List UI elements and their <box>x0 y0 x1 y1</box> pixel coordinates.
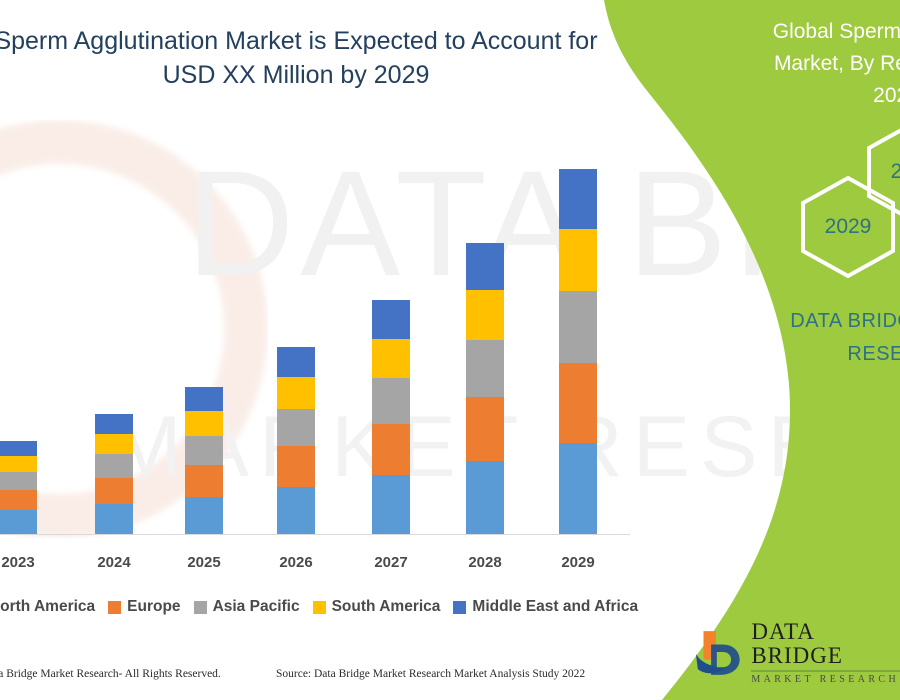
legend-item-middle-east-and-africa[interactable]: Middle East and Africa <box>453 598 638 616</box>
bar-segment-middle-east-and-africa-2029 <box>559 169 597 229</box>
legend-item-europe[interactable]: Europe <box>108 598 180 616</box>
x-axis-label-2026: 2026 <box>256 554 336 571</box>
bar-segment-south-america-2027 <box>372 339 410 379</box>
hexagon-badge-2029: 2029 <box>800 175 896 279</box>
bar-segment-europe-2023 <box>0 490 37 510</box>
bar-2026 <box>277 347 315 534</box>
green-panel-caption: DATA BRIDGE MARKET RESEARCH <box>780 305 900 371</box>
bar-segment-asia-pacific-2024 <box>95 454 133 478</box>
dbmr-b-mark-icon <box>694 628 745 678</box>
legend-item-asia-pacific[interactable]: Asia Pacific <box>194 598 300 616</box>
x-axis-label-2024: 2024 <box>74 554 154 571</box>
bar-segment-middle-east-and-africa-2026 <box>277 347 315 377</box>
logo-subtitle: MARKET RESEARCH <box>751 674 900 686</box>
legend-swatch-icon <box>194 601 207 614</box>
bar-2027 <box>372 300 410 534</box>
brand-logo: DATA BRIDGE MARKET RESEARCH <box>694 625 900 681</box>
bar-segment-middle-east-and-africa-2027 <box>372 300 410 338</box>
bar-segment-europe-2028 <box>466 397 504 460</box>
logo-wordmark: DATA BRIDGE MARKET RESEARCH <box>751 620 900 686</box>
chart-infographic: DATA BRIDGE MARKET RESEARCH Global Sperm… <box>0 0 900 700</box>
bar-segment-europe-2026 <box>277 446 315 487</box>
bar-segment-middle-east-and-africa-2025 <box>185 387 223 411</box>
bar-segment-south-america-2023 <box>0 456 37 472</box>
bar-segment-europe-2024 <box>95 478 133 504</box>
bar-segment-north-america-2023 <box>0 510 37 534</box>
legend-label: Middle East and Africa <box>472 598 638 616</box>
stacked-bar-chart <box>0 150 640 535</box>
bar-2025 <box>185 387 223 534</box>
green-panel-title: Global Sperm Agglutination Market, By Re… <box>770 16 900 112</box>
legend-label: Europe <box>127 598 180 616</box>
legend-label: North America <box>0 598 95 616</box>
bar-segment-asia-pacific-2023 <box>0 472 37 490</box>
bar-2023 <box>0 441 37 534</box>
legend-label: South America <box>332 598 441 616</box>
bar-segment-north-america-2027 <box>372 475 410 534</box>
bar-segment-asia-pacific-2029 <box>559 291 597 363</box>
bar-segment-middle-east-and-africa-2028 <box>466 243 504 290</box>
legend-swatch-icon <box>453 601 466 614</box>
bar-segment-north-america-2025 <box>185 497 223 534</box>
bar-segment-asia-pacific-2026 <box>277 409 315 446</box>
x-axis-label-2025: 2025 <box>164 554 244 571</box>
x-axis-labels: 2023202420252026202720282029 <box>0 554 640 584</box>
bar-segment-asia-pacific-2028 <box>466 340 504 398</box>
legend-swatch-icon <box>108 601 121 614</box>
legend-swatch-icon <box>313 601 326 614</box>
x-axis-label-2029: 2029 <box>538 554 618 571</box>
hexagon-badge-2029-label: 2029 <box>825 215 872 239</box>
page-title: Sperm Agglutination Market is Expected t… <box>0 24 616 92</box>
footer-source: Source: Data Bridge Market Research Mark… <box>276 668 585 680</box>
bar-segment-middle-east-and-africa-2024 <box>95 414 133 433</box>
x-axis-label-2023: 2023 <box>0 554 58 571</box>
bar-segment-north-america-2024 <box>95 504 133 534</box>
x-axis-label-2027: 2027 <box>351 554 431 571</box>
hexagon-badge-2022-label: 2022 <box>891 160 900 184</box>
logo-title: DATA BRIDGE <box>751 620 900 668</box>
bar-2024 <box>95 414 133 534</box>
legend-item-south-america[interactable]: South America <box>313 598 441 616</box>
bar-segment-north-america-2029 <box>559 443 597 534</box>
bar-segment-north-america-2026 <box>277 487 315 534</box>
bar-segment-europe-2025 <box>185 465 223 497</box>
bar-segment-south-america-2026 <box>277 377 315 409</box>
bar-segment-asia-pacific-2027 <box>372 378 410 424</box>
bar-segment-middle-east-and-africa-2023 <box>0 441 37 456</box>
legend-label: Asia Pacific <box>213 598 300 616</box>
footer-copyright: © Data Bridge Market Research- All Right… <box>0 668 221 680</box>
bar-segment-asia-pacific-2025 <box>185 436 223 465</box>
bar-segment-europe-2027 <box>372 424 410 475</box>
legend-item-north-america[interactable]: North America <box>0 598 95 616</box>
logo-divider <box>751 670 900 672</box>
chart-legend: North AmericaEuropeAsia PacificSouth Ame… <box>0 598 654 616</box>
bar-segment-north-america-2028 <box>466 461 504 534</box>
bar-segment-south-america-2024 <box>95 434 133 454</box>
bar-segment-south-america-2029 <box>559 229 597 291</box>
x-axis-label-2028: 2028 <box>445 554 525 571</box>
bar-2028 <box>466 243 504 534</box>
bar-2029 <box>559 169 597 534</box>
bar-segment-europe-2029 <box>559 363 597 442</box>
bar-segment-south-america-2025 <box>185 411 223 436</box>
x-axis-line <box>0 534 630 535</box>
bar-segment-south-america-2028 <box>466 290 504 340</box>
